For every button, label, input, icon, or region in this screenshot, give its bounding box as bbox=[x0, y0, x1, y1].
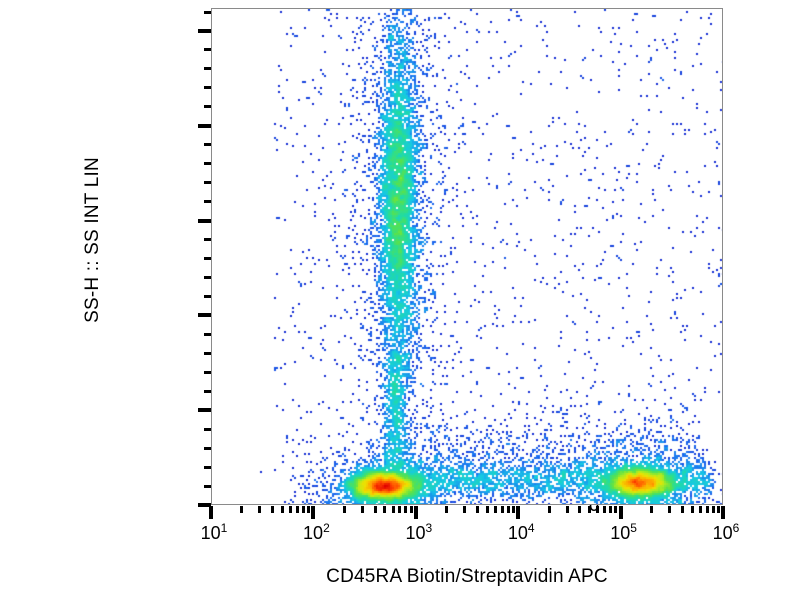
y-tick-major bbox=[198, 29, 211, 33]
x-tick-minor bbox=[668, 506, 671, 513]
x-tick-minor bbox=[507, 506, 510, 513]
x-tick-minor bbox=[289, 506, 292, 513]
x-tick-minor bbox=[596, 506, 599, 513]
x-tick-minor bbox=[258, 506, 261, 513]
y-tick-major bbox=[198, 313, 211, 317]
y-tick-minor bbox=[204, 200, 211, 203]
y-tick-minor bbox=[204, 390, 211, 393]
x-tick-minor bbox=[566, 506, 569, 513]
x-tick-mantissa: 10 bbox=[508, 523, 528, 543]
y-tick-minor bbox=[204, 276, 211, 279]
x-tick-major bbox=[209, 506, 213, 519]
x-tick-label: 105 bbox=[610, 524, 637, 542]
y-tick-minor bbox=[204, 105, 211, 108]
x-tick-minor bbox=[486, 506, 489, 513]
y-tick-minor bbox=[204, 428, 211, 431]
y-tick-minor bbox=[204, 485, 211, 488]
x-tick-mantissa: 10 bbox=[713, 523, 733, 543]
x-tick-exponent: 1 bbox=[221, 521, 228, 535]
x-axis-ticks bbox=[211, 506, 724, 520]
y-tick-major bbox=[198, 408, 211, 412]
x-tick-minor bbox=[296, 506, 299, 513]
x-tick-label: 102 bbox=[303, 524, 330, 542]
y-tick-minor bbox=[204, 257, 211, 260]
x-tick-mantissa: 10 bbox=[610, 523, 630, 543]
x-tick-minor bbox=[699, 506, 702, 513]
x-tick-minor bbox=[609, 506, 612, 513]
x-tick-minor bbox=[494, 506, 497, 513]
x-tick-major bbox=[721, 506, 725, 519]
x-axis-title: CD45RA Biotin/Streptavidin APC bbox=[211, 566, 723, 588]
x-tick-label: 101 bbox=[201, 524, 228, 542]
x-tick-minor bbox=[463, 506, 466, 513]
x-tick-label: 103 bbox=[405, 524, 432, 542]
x-tick-minor bbox=[271, 506, 274, 513]
x-tick-minor bbox=[501, 506, 504, 513]
x-tick-major bbox=[516, 506, 520, 519]
y-tick-minor bbox=[204, 466, 211, 469]
x-tick-minor bbox=[548, 506, 551, 513]
x-tick-exponent: 3 bbox=[425, 521, 432, 535]
x-tick-minor bbox=[343, 506, 346, 513]
x-tick-major bbox=[311, 506, 315, 519]
x-tick-minor bbox=[383, 506, 386, 513]
x-tick-minor bbox=[240, 506, 243, 513]
x-tick-label: 106 bbox=[713, 524, 740, 542]
y-tick-minor bbox=[204, 238, 211, 241]
x-tick-minor bbox=[307, 506, 310, 513]
scatter-plot-canvas bbox=[212, 9, 723, 505]
x-tick-exponent: 2 bbox=[323, 521, 330, 535]
x-tick-minor bbox=[404, 506, 407, 513]
x-tick-exponent: 5 bbox=[630, 521, 637, 535]
x-tick-minor bbox=[603, 506, 606, 513]
y-tick-major bbox=[198, 124, 211, 128]
x-tick-minor bbox=[588, 506, 591, 513]
y-tick-minor bbox=[204, 48, 211, 51]
x-tick-minor bbox=[398, 506, 401, 513]
x-tick-minor bbox=[302, 506, 305, 513]
y-tick-minor bbox=[204, 143, 211, 146]
x-tick-major bbox=[414, 506, 418, 519]
x-tick-minor bbox=[445, 506, 448, 513]
y-tick-minor bbox=[204, 86, 211, 89]
x-tick-major bbox=[619, 506, 623, 519]
x-tick-minor bbox=[681, 506, 684, 513]
x-tick-mantissa: 10 bbox=[405, 523, 425, 543]
y-tick-minor bbox=[204, 352, 211, 355]
y-tick-major bbox=[198, 219, 211, 223]
flow-cytometry-figure: SS-H :: SS INT LIN 050K100K150K200K250K … bbox=[0, 0, 800, 600]
y-tick-minor bbox=[204, 447, 211, 450]
x-tick-minor bbox=[281, 506, 284, 513]
x-tick-minor bbox=[374, 506, 377, 513]
y-tick-minor bbox=[204, 371, 211, 374]
x-tick-minor bbox=[410, 506, 413, 513]
x-tick-minor bbox=[717, 506, 720, 513]
x-tick-minor bbox=[712, 506, 715, 513]
x-tick-minor bbox=[392, 506, 395, 513]
y-tick-minor bbox=[204, 333, 211, 336]
x-tick-minor bbox=[512, 506, 515, 513]
y-tick-minor bbox=[204, 295, 211, 298]
x-tick-minor bbox=[578, 506, 581, 513]
x-tick-minor bbox=[706, 506, 709, 513]
x-tick-minor bbox=[476, 506, 479, 513]
x-tick-exponent: 6 bbox=[733, 521, 740, 535]
y-axis-title: SS-H :: SS INT LIN bbox=[78, 0, 108, 500]
x-tick-minor bbox=[650, 506, 653, 513]
x-tick-minor bbox=[361, 506, 364, 513]
x-tick-exponent: 4 bbox=[528, 521, 535, 535]
y-tick-minor bbox=[204, 181, 211, 184]
y-tick-minor bbox=[204, 67, 211, 70]
y-tick-minor bbox=[204, 11, 211, 14]
y-tick-minor bbox=[204, 162, 211, 165]
x-tick-mantissa: 10 bbox=[303, 523, 323, 543]
x-tick-minor bbox=[691, 506, 694, 513]
x-tick-minor bbox=[614, 506, 617, 513]
x-tick-label: 104 bbox=[508, 524, 535, 542]
x-tick-mantissa: 10 bbox=[201, 523, 221, 543]
y-axis-ticks bbox=[196, 8, 211, 505]
plot-area[interactable] bbox=[211, 8, 723, 505]
